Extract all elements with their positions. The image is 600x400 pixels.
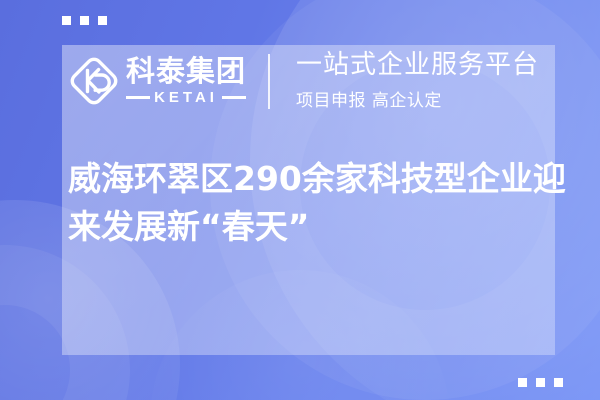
wordmark-rule-right	[222, 96, 246, 99]
brand-logo[interactable]: 科泰集团 KETAI	[68, 55, 246, 107]
brand-wordmark: 科泰集团 KETAI	[126, 57, 246, 105]
decorative-square	[62, 16, 71, 25]
brand-name-cn: 科泰集团	[126, 57, 246, 86]
decorative-square	[518, 378, 527, 387]
headline: 威海环翠区290余家科技型企业迎来发展新“春天”	[68, 155, 573, 251]
decorative-square	[554, 378, 563, 387]
decorative-squares-top-left	[62, 16, 107, 25]
vertical-divider	[268, 54, 270, 109]
slogan-secondary: 项目申报 高企认定	[296, 86, 539, 111]
brand-name-latin-row: KETAI	[126, 90, 246, 105]
slogan-primary: 一站式企业服务平台	[296, 51, 539, 80]
decorative-square	[536, 378, 545, 387]
banner-canvas: 科泰集团 KETAI 一站式企业服务平台 项目申报 高企认定 威海环翠区290余…	[0, 0, 600, 400]
brand-name-latin: KETAI	[154, 90, 218, 105]
slogan-block: 一站式企业服务平台 项目申报 高企认定	[296, 51, 539, 110]
ketai-diamond-monogram-icon	[68, 55, 120, 107]
wordmark-rule-left	[126, 96, 150, 99]
brand-header: 科泰集团 KETAI 一站式企业服务平台 项目申报 高企认定	[62, 45, 555, 117]
decorative-square	[80, 16, 89, 25]
decorative-squares-bottom-right	[518, 378, 563, 387]
decorative-square	[98, 16, 107, 25]
